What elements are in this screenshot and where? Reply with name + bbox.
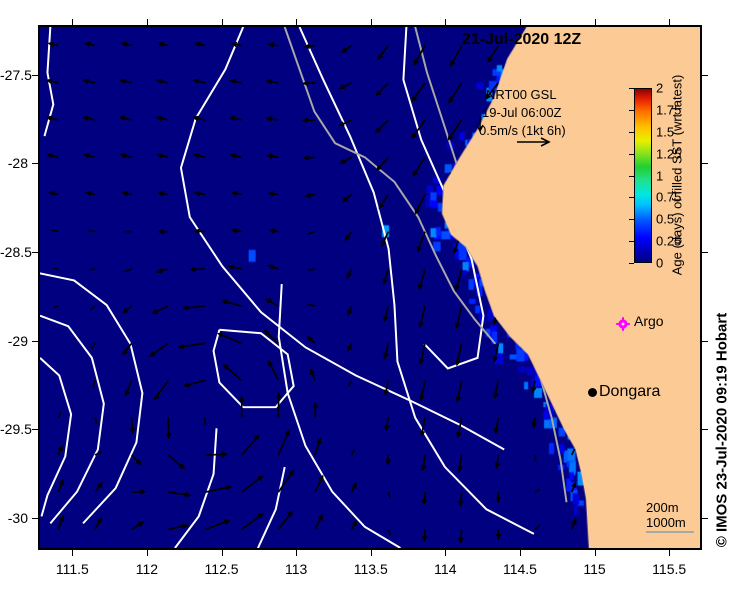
current-vector-arrow [242,436,259,455]
current-vector-arrow [570,380,571,386]
current-vector-arrow [568,269,572,275]
current-vector-arrow [278,431,288,455]
current-vector-arrow [308,269,315,270]
ytick-mark [32,163,38,164]
current-vector-arrow [205,521,229,530]
xtick-mark-top [147,19,148,25]
depth-contour-legend: 200m 1000m [646,500,686,530]
current-vector-arrow [645,480,649,492]
current-vector-arrow [388,492,390,498]
current-vector-head [645,446,649,451]
current-vector-arrow [205,454,226,455]
current-vector-arrow [454,232,461,253]
current-vector-arrow [673,44,682,46]
current-vector-arrow [532,306,535,318]
current-vector-arrow [150,343,168,356]
depth-legend-deep: 1000m [646,515,686,530]
current-vector-arrow [535,526,539,530]
colorbar-tick-label: 1 [656,168,663,183]
current-vector-head [566,233,570,237]
contour-and-vector-overlay [40,27,700,548]
current-vector-arrow [682,480,686,492]
current-vector-arrow [608,412,610,417]
current-vector-arrow [636,44,645,46]
current-vector-arrow [487,157,498,172]
current-vector-head [491,244,495,249]
xtick-mark [669,550,670,556]
colorbar-tick-mark [629,132,634,133]
current-vector-arrow [608,446,611,455]
colorbar-gradient [634,88,652,263]
xtick-mark-top [72,19,73,25]
current-vector-arrow [532,343,535,355]
current-vector-head [492,282,496,286]
current-vector-arrow [168,455,183,468]
current-vector-head [450,172,454,177]
current-vector-arrow [269,361,279,380]
ytick-mark-right [702,341,708,342]
xtick-label: 115 [583,561,605,577]
current-vector-arrow [602,232,608,233]
current-vector-arrow [95,418,97,424]
depth-legend-shallow: 200m [646,500,686,515]
current-vector-arrow [492,232,499,249]
current-vector-head [598,80,602,84]
xtick-mark [72,550,73,556]
current-vector-arrow [452,195,462,215]
ytick-mark-right [702,75,708,76]
current-vector-arrow [377,157,388,169]
colorbar-tick-mark [629,219,634,220]
current-vector-head [682,445,686,450]
current-vector-arrow [598,82,609,83]
ssh-contour-line [258,467,285,548]
current-vector-arrow [634,81,645,83]
ytick-label: -28.5 [0,244,28,260]
current-vector-head [608,446,612,451]
current-vector-arrow [377,83,389,95]
xtick-label: 111.5 [56,561,89,577]
current-vector-arrow [645,376,646,380]
colorbar: 00.250.50.7511.251.51.752 [634,88,652,263]
current-vector-arrow [563,195,571,199]
current-vector-head [563,195,568,199]
xtick-mark-top [296,19,297,25]
colorbar-title: Age (days) of filled SST (wrt latest) [670,75,685,276]
current-vector-arrow [308,304,315,306]
current-vector-arrow [535,455,536,461]
ytick-label: -29.5 [0,421,28,437]
dongara-location-marker [588,388,597,397]
current-vector-arrow [682,411,684,417]
ytick-label: -29 [0,333,28,349]
current-vector-arrow [54,306,58,307]
ytick-mark [32,75,38,76]
copyright-credit: © IMOS 23-Jul-2020 09:19 Hobart [714,313,731,547]
current-vector-arrow [645,446,648,455]
xtick-mark-top [222,19,223,25]
current-vector-arrow [566,232,572,237]
current-vector-arrow [608,481,612,492]
xtick-mark [445,550,446,556]
xtick-mark [222,550,223,556]
current-vector-head [600,192,604,196]
current-vector-head [452,210,456,215]
ssh-contour-line [581,27,593,59]
current-vector-arrow [527,195,535,205]
ytick-mark-right [702,518,708,519]
ssh-contour-line [279,284,401,548]
colorbar-tick-mark [629,88,634,89]
current-vector-arrow [123,343,131,354]
current-vector-arrow [90,306,94,310]
current-vector-head [609,518,613,523]
current-vector-arrow [489,195,498,211]
current-vector-arrow [242,514,263,529]
current-vector-head [525,51,529,55]
current-vector-arrow [493,269,498,286]
current-vector-arrow [535,489,540,492]
ssh-contour-line [403,27,483,368]
ytick-mark [32,518,38,519]
xtick-mark-top [371,19,372,25]
current-vector-arrow [308,232,315,234]
current-vector-head [531,350,535,354]
current-vector-arrow [451,46,462,66]
ytick-mark [32,252,38,253]
current-vector-arrow [449,120,462,139]
vector-scale-arrow-icon [516,136,556,148]
current-vector-head [673,42,677,46]
current-vector-group [47,42,686,541]
dongara-place-label: Dongara [599,383,660,401]
xtick-label: 115.5 [652,561,686,577]
argo-legend-label: Argo [634,313,664,329]
map-title: 21-Jul-2020 12Z [462,31,581,49]
colorbar-tick-mark [629,110,634,111]
argo-float-marker-icon [616,317,630,331]
current-vector-arrow [52,230,58,231]
colorbar-tick-label: 0 [656,256,663,271]
current-vector-head [634,79,638,83]
xtick-label: 112 [136,561,158,577]
colorbar-tick-mark [629,176,634,177]
current-vector-arrow [278,512,292,529]
xtick-label: 114 [434,561,456,577]
current-vector-arrow [605,306,608,310]
current-vector-arrow [380,195,389,208]
current-vector-head [524,162,528,166]
current-vector-arrow [53,268,58,269]
current-vector-arrow [531,269,535,280]
current-vector-arrow [219,334,242,344]
ssh-contour-line [181,27,504,449]
xtick-mark-top [445,19,446,25]
xtick-label: 114.5 [503,561,537,577]
ytick-label: -28 [0,155,28,171]
current-vector-arrow [572,449,575,455]
current-vector-head [646,480,650,485]
current-vector-arrow [413,83,425,101]
ytick-mark-right [702,163,708,164]
current-vector-head [487,168,491,172]
current-vector-arrow [607,343,609,347]
xtick-mark [296,550,297,556]
current-vector-arrow [348,380,351,386]
current-vector-arrow [682,445,685,455]
current-vector-arrow [58,412,61,417]
ytick-label: -30 [0,510,28,526]
current-vector-arrow [124,269,131,272]
current-vector-arrow [524,157,535,166]
current-vector-arrow [529,232,535,243]
current-vector-arrow [413,157,425,175]
current-vector-arrow [560,83,571,86]
current-vector-arrow [89,231,95,232]
ytick-mark [32,429,38,430]
xtick-label: 113.5 [354,561,388,577]
current-vector-arrow [376,120,388,132]
ytick-mark [32,341,38,342]
annotation-product-line: NRT00 GSL [486,87,557,102]
current-vector-arrow [388,529,390,534]
annotation-datetime-line: 19-Jul 06:00Z [482,105,562,120]
colorbar-tick-mark [629,197,634,198]
colorbar-tick-mark [629,263,634,264]
current-vector-arrow [416,195,425,214]
xtick-mark-top [520,19,521,25]
current-vector-arrow [224,365,241,380]
current-vector-head [683,480,687,485]
current-vector-head [529,238,533,242]
current-vector-head [527,200,531,204]
current-vector-arrow [598,157,608,158]
current-vector-head [560,83,564,87]
current-vector-arrow [645,412,647,418]
current-vector-arrow [155,380,168,398]
current-vector-arrow [604,269,609,272]
current-vector-head [598,155,602,159]
current-vector-arrow [608,518,612,530]
current-vector-arrow [93,380,95,387]
current-vector-arrow [278,471,293,492]
current-vector-arrow [379,46,389,59]
current-vector-head [531,313,535,317]
ytick-mark-right [702,252,708,253]
current-vector-arrow [242,476,262,492]
current-vector-head [609,481,613,486]
xtick-mark-top [595,19,596,25]
current-vector-arrow [569,306,571,313]
current-vector-head [597,117,601,121]
xtick-label: 113 [285,561,307,577]
depth-legend-rule [646,531,694,533]
ytick-label: -27.5 [0,67,28,83]
current-vector-head [489,206,493,211]
current-vector-arrow [412,120,425,138]
current-vector-arrow [572,418,573,423]
current-vector-arrow [682,376,683,381]
current-vector-head [561,157,565,161]
current-vector-arrow [89,269,95,270]
colorbar-tick-mark [629,154,634,155]
xtick-mark [595,550,596,556]
colorbar-tick-label: 2 [656,81,663,96]
xtick-mark [520,550,521,556]
xtick-mark-top [669,19,670,25]
xtick-mark [147,550,148,556]
current-vector-arrow [561,157,572,160]
ssh-contour-line [175,428,217,548]
ytick-mark-right [702,429,708,430]
vector-scale-tick-icon [476,116,485,132]
map-plot-area[interactable] [38,25,702,550]
current-vector-arrow [597,119,608,120]
xtick-label: 112.5 [205,561,239,577]
current-vector-head [530,276,534,281]
current-vector-arrow [352,449,355,455]
current-vector-arrow [91,343,95,349]
current-vector-arrow [570,343,572,350]
current-vector-arrow [449,83,462,102]
colorbar-tick-mark [629,241,634,242]
bathymetry-contour-line [285,27,496,344]
sst-age-map-figure: 21-Jul-2020 12Z NRT00 GSL 19-Jul 06:00Z … [0,0,739,592]
xtick-mark [371,550,372,556]
current-vector-head [636,43,640,47]
ssh-contour-line [40,358,71,516]
current-vector-head [599,43,603,47]
